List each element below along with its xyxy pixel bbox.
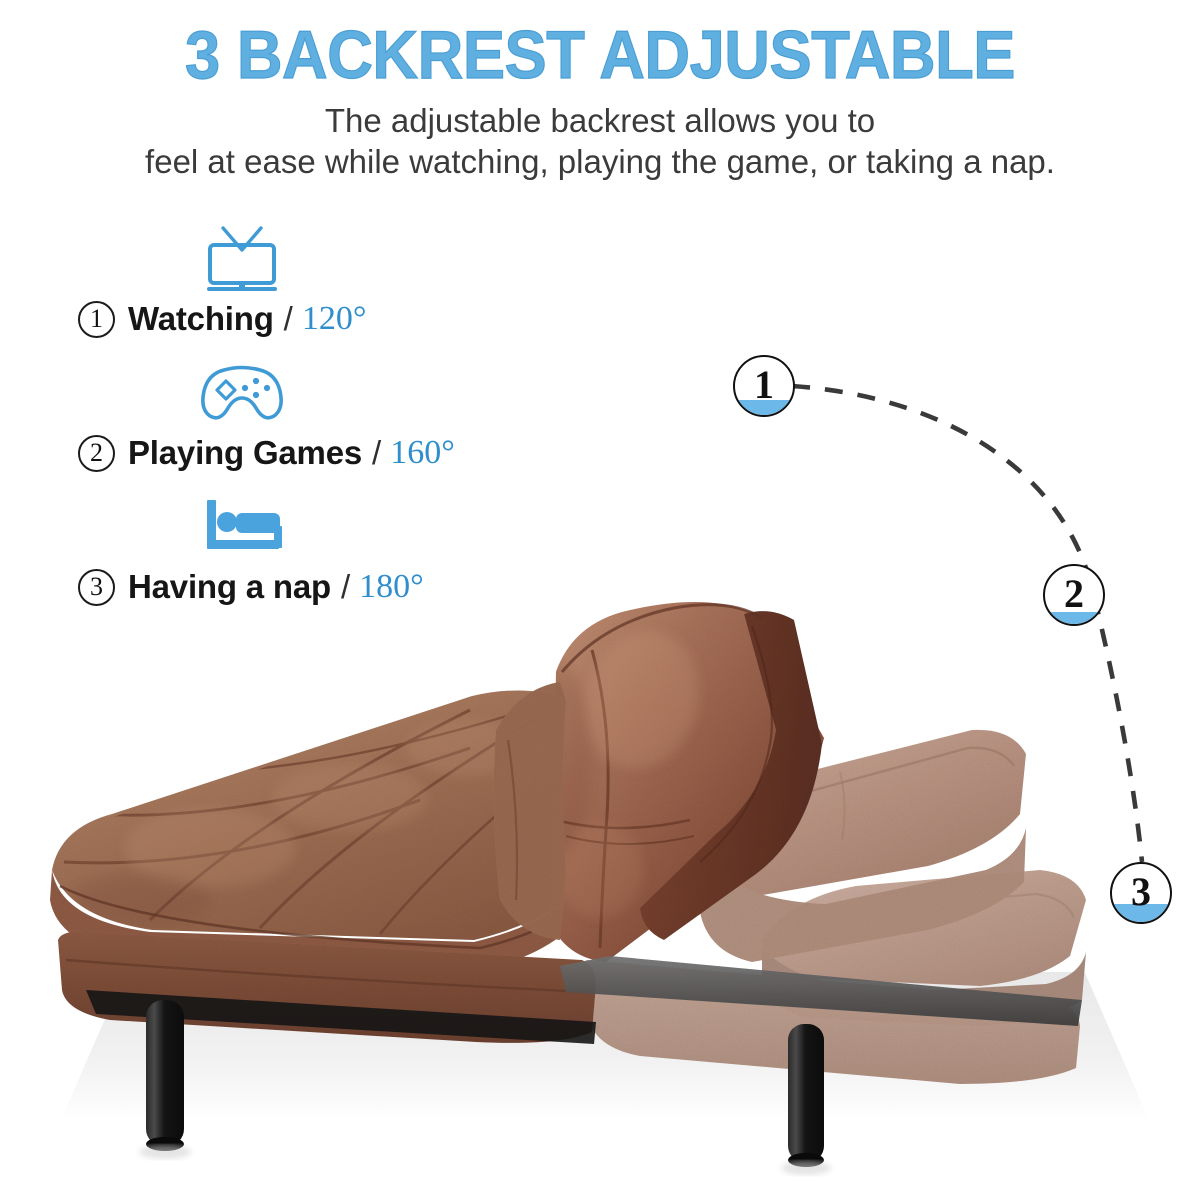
- legend-row-watching: 1 Watching / 120°: [78, 300, 366, 338]
- legend-item-watching: 1 Watching / 120°: [78, 222, 508, 356]
- sofa-leg-front-left: [139, 1000, 191, 1159]
- legend-label-watching: Watching: [128, 300, 274, 338]
- header: 3 BACKREST ADJUSTABLE The adjustable bac…: [0, 0, 1200, 182]
- backrest-mode-legend: 1 Watching / 120° 2 Playing Game: [78, 222, 508, 624]
- infographic-canvas: 3 BACKREST ADJUSTABLE The adjustable bac…: [0, 0, 1200, 1200]
- position-badge-3[interactable]: 3: [1110, 862, 1172, 924]
- subtitle: The adjustable backrest allows you to fe…: [0, 100, 1200, 182]
- legend-angle-watching: 120°: [302, 300, 367, 338]
- legend-separator-2: /: [372, 434, 381, 472]
- legend-number-2: 2: [78, 435, 115, 472]
- legend-number-1: 1: [78, 301, 115, 338]
- legend-item-having-a-nap: 3 Having a nap / 180°: [78, 490, 508, 624]
- legend-separator-1: /: [284, 300, 293, 338]
- legend-item-playing-games: 2 Playing Games / 160°: [78, 356, 508, 490]
- position-badge-1[interactable]: 1: [733, 355, 795, 417]
- legend-angle-playing-games: 160°: [390, 434, 455, 472]
- legend-row-having-a-nap: 3 Having a nap / 180°: [78, 568, 424, 606]
- position-badge-1-number: 1: [754, 365, 774, 405]
- bed-icon: [196, 490, 288, 564]
- legend-label-having-a-nap: Having a nap: [128, 568, 331, 606]
- legend-angle-having-a-nap: 180°: [359, 568, 424, 606]
- legend-number-3: 3: [78, 569, 115, 606]
- page-title: 3 BACKREST ADJUSTABLE: [42, 18, 1158, 92]
- subtitle-line-1: The adjustable backrest allows you to: [0, 100, 1200, 141]
- position-badge-2-number: 2: [1064, 574, 1084, 614]
- legend-row-playing-games: 2 Playing Games / 160°: [78, 434, 455, 472]
- legend-separator-3: /: [341, 568, 350, 606]
- television-icon: [196, 222, 288, 296]
- legend-label-playing-games: Playing Games: [128, 434, 362, 472]
- sofa-leg-front-right: [781, 1024, 831, 1175]
- gamepad-icon: [196, 356, 288, 430]
- position-badge-2[interactable]: 2: [1043, 564, 1105, 626]
- backrest-side-bolster: [494, 682, 566, 940]
- position-badge-3-number: 3: [1131, 872, 1151, 912]
- subtitle-line-2: feel at ease while watching, playing the…: [0, 141, 1200, 182]
